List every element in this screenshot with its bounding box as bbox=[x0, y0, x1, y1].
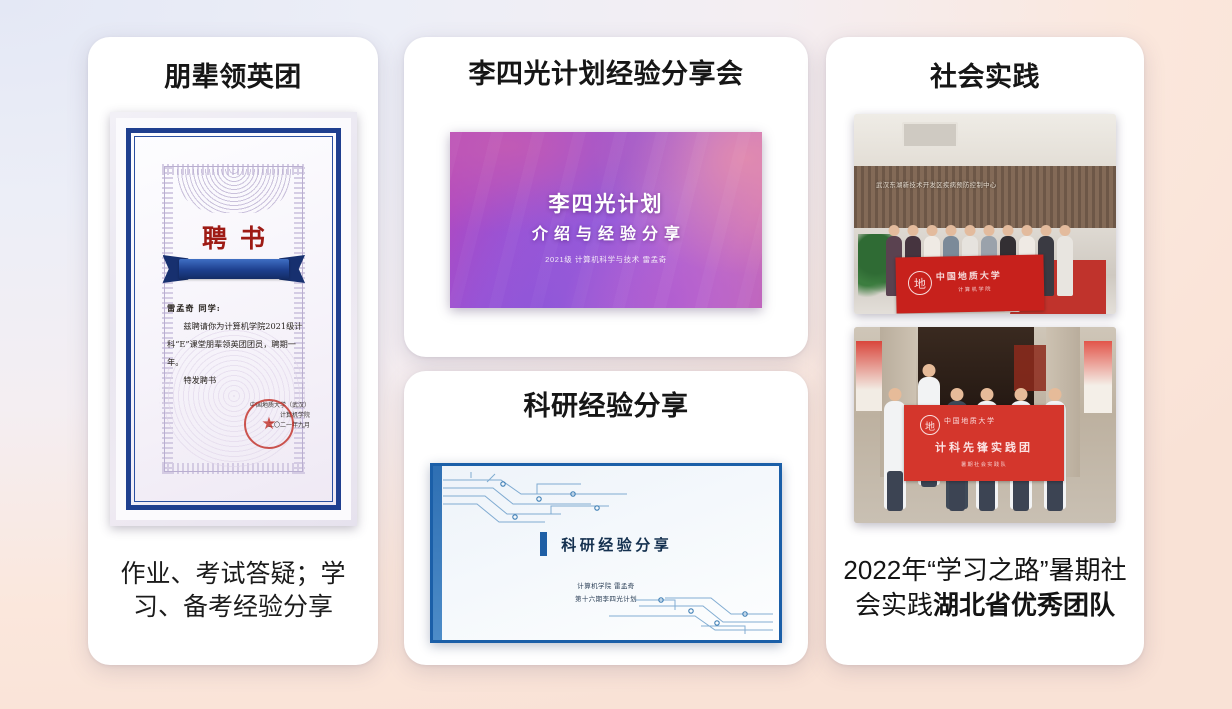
banner-team-subtitle: 暑期社会实践队 bbox=[904, 461, 1064, 468]
certificate-medallion-ornament bbox=[174, 169, 294, 213]
certificate-seal-text: 中国地质大学（武汉） 计算机学院 二〇二一年九月 bbox=[202, 401, 310, 432]
caption-peer-mentor: 作业、考试答疑；学习、备考经验分享 bbox=[98, 558, 368, 624]
card-lisiguang-sharing: 李四光计划经验分享会 李四光计划 介绍与经验分享 2021级 计算机科学与技术 … bbox=[404, 37, 808, 357]
banner-university-name: 中国地质大学 bbox=[944, 416, 996, 426]
ribbon-band bbox=[179, 259, 289, 279]
certificate-body-line-2: 科“E”课堂朋辈领英团团员，聘期一 bbox=[167, 337, 306, 353]
certificate-closing: 特发聘书 bbox=[167, 373, 306, 389]
seal-date: 二〇二一年九月 bbox=[202, 421, 310, 431]
card-title-research: 科研经验分享 bbox=[404, 393, 808, 420]
certificate-body-text: 雷孟奇 同学: 兹聘请你为计算机学院2021级计 科“E”课堂朋辈领英团团员，聘… bbox=[167, 301, 306, 391]
lisiguang-slide-subtitle: 介绍与经验分享 bbox=[450, 220, 762, 244]
certificate-recipient: 雷孟奇 同学: bbox=[167, 301, 306, 317]
ceiling-vent bbox=[902, 122, 958, 148]
photo-poster-left bbox=[856, 341, 882, 411]
certificate-seal-area: 中国地质大学（武汉） 计算机学院 二〇二一年九月 ★ bbox=[200, 397, 310, 453]
lisiguang-slide-image: 李四光计划 介绍与经验分享 2021级 计算机科学与技术 雷孟奇 bbox=[450, 132, 762, 308]
research-slide-title-row: 科研经验分享 bbox=[433, 532, 779, 556]
research-slide-image: 科研经验分享 计算机学院 雷孟奇 第十六期李四光计划 bbox=[430, 463, 782, 643]
ribbon-tail-right bbox=[279, 255, 305, 283]
card-title-peer-mentor: 朋辈领英团 bbox=[88, 64, 378, 91]
photo-practice-team: 地 中国地质大学 计科先锋实践团 暑期社会实践队 bbox=[854, 327, 1116, 523]
caption-social-bold: 湖北省优秀团队 bbox=[933, 590, 1115, 620]
card-social-practice: 社会实践 武汉东湖新技术开发区疾病预防控制中心 bbox=[826, 37, 1144, 665]
person bbox=[1057, 236, 1073, 296]
certificate-body-line-3: 年。 bbox=[167, 355, 306, 371]
photo-cdc-visit: 武汉东湖新技术开发区疾病预防控制中心 地 中国地质大学 bbox=[854, 114, 1116, 314]
card-title-social-practice: 社会实践 bbox=[826, 64, 1144, 91]
cdc-wall-sign: 武汉东湖新技术开发区疾病预防控制中心 bbox=[876, 180, 1056, 192]
research-slide-inner: 科研经验分享 计算机学院 雷孟奇 第十六期李四光计划 bbox=[433, 466, 779, 640]
certificate-watermark bbox=[159, 321, 309, 471]
lisiguang-slide-title: 李四光计划 bbox=[450, 188, 762, 218]
certificate-body-line-1: 兹聘请你为计算机学院2021级计 bbox=[167, 319, 306, 335]
university-logo-icon: 地 bbox=[908, 271, 932, 295]
card-peer-mentor-group: 朋辈领英团 聘书 雷孟奇 同学: 兹聘请你为计算机 bbox=[88, 37, 378, 665]
card-title-lisiguang: 李四光计划经验分享会 bbox=[404, 61, 808, 88]
photo-ceiling bbox=[854, 114, 1116, 166]
ribbon-tail-left bbox=[163, 255, 189, 283]
lisiguang-slide-byline: 2021级 计算机科学与技术 雷孟奇 bbox=[450, 254, 762, 265]
research-title-accent-bar bbox=[540, 532, 547, 556]
red-seal-stamp-icon: ★ bbox=[244, 399, 294, 449]
team-photo-banner: 地 中国地质大学 计科先锋实践团 暑期社会实践队 bbox=[904, 405, 1064, 481]
seal-org-line-2: 计算机学院 bbox=[202, 411, 310, 421]
card-research-sharing: 科研经验分享 bbox=[404, 371, 808, 665]
certificate-inner-line bbox=[164, 166, 303, 472]
banner-school-name: 计算机学院 bbox=[958, 286, 992, 294]
certificate-heading: 聘书 bbox=[131, 219, 336, 255]
person bbox=[884, 401, 906, 509]
cdc-photo-banner: 地 中国地质大学 计算机学院 bbox=[895, 254, 1044, 313]
caption-social-practice: 2022年“学习之路”暑期社会实践湖北省优秀团队 bbox=[838, 553, 1132, 624]
university-logo-icon: 地 bbox=[920, 415, 940, 435]
certificate-image: 聘书 雷孟奇 同学: 兹聘请你为计算机学院2021级计 科“E”课堂朋辈领英团团… bbox=[110, 112, 357, 526]
research-subtitle-line-1: 计算机学院 雷孟奇 bbox=[433, 580, 779, 593]
certificate-blue-frame: 聘书 雷孟奇 同学: 兹聘请你为计算机学院2021级计 科“E”课堂朋辈领英团团… bbox=[126, 128, 341, 510]
certificate-ribbon bbox=[163, 255, 305, 285]
seal-org-line-1: 中国地质大学（武汉） bbox=[202, 401, 310, 411]
certificate-lace-border bbox=[151, 153, 316, 485]
slide-canvas: 朋辈领英团 聘书 雷孟奇 同学: 兹聘请你为计算机 bbox=[0, 0, 1232, 709]
certificate-paper: 聘书 雷孟奇 同学: 兹聘请你为计算机学院2021级计 科“E”课堂朋辈领英团团… bbox=[116, 118, 351, 520]
research-subtitle-line-2: 第十六期李四光计划 bbox=[433, 593, 779, 606]
research-slide-title: 科研经验分享 bbox=[558, 534, 673, 555]
banner-university-name: 中国地质大学 bbox=[936, 268, 1002, 282]
banner-team-name: 计科先锋实践团 bbox=[904, 439, 1064, 455]
research-slide-subtitle: 计算机学院 雷孟奇 第十六期李四光计划 bbox=[433, 580, 779, 606]
